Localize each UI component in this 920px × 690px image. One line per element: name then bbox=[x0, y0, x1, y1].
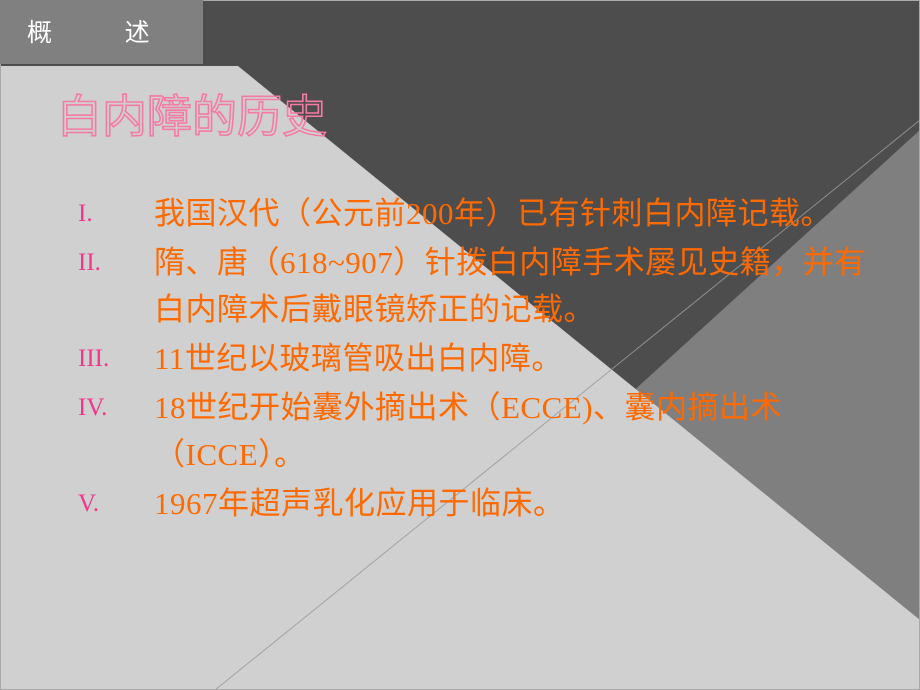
section-header-chip: 概 述 bbox=[0, 0, 203, 64]
list-item-text: 隋、唐（618~907）针拨白内障手术屡见史籍，并有白内障术后戴眼镜矫正的记载。 bbox=[154, 239, 884, 333]
list-item-text: 我国汉代（公元前200年）已有针刺白内障记载。 bbox=[154, 190, 884, 237]
list-item-text: 18世纪开始囊外摘出术（ECCE)、囊内摘出术（ICCE）。 bbox=[154, 384, 884, 478]
list-item-marker: V. bbox=[64, 480, 154, 527]
presentation-slide: 概 述 白内障的历史 I. 我国汉代（公元前200年）已有针刺白内障记载。 II… bbox=[0, 0, 920, 690]
list-item: I. 我国汉代（公元前200年）已有针刺白内障记载。 bbox=[64, 190, 884, 237]
list-item-marker: III. bbox=[64, 335, 154, 382]
slide-title: 白内障的历史 bbox=[57, 92, 327, 142]
list-item-text: 1967年超声乳化应用于临床。 bbox=[154, 480, 884, 527]
history-list: I. 我国汉代（公元前200年）已有针刺白内障记载。 II. 隋、唐（618~9… bbox=[64, 190, 884, 529]
list-item-marker: I. bbox=[64, 190, 154, 237]
list-item-marker: II. bbox=[64, 239, 154, 286]
list-item: III. 11世纪以玻璃管吸出白内障。 bbox=[64, 335, 884, 382]
section-header-label: 概 述 bbox=[27, 20, 151, 45]
list-item: V. 1967年超声乳化应用于临床。 bbox=[64, 480, 884, 527]
list-item: II. 隋、唐（618~907）针拨白内障手术屡见史籍，并有白内障术后戴眼镜矫正… bbox=[64, 239, 884, 333]
list-item: IV. 18世纪开始囊外摘出术（ECCE)、囊内摘出术（ICCE）。 bbox=[64, 384, 884, 478]
list-item-text: 11世纪以玻璃管吸出白内障。 bbox=[154, 335, 884, 382]
list-item-marker: IV. bbox=[64, 384, 154, 431]
